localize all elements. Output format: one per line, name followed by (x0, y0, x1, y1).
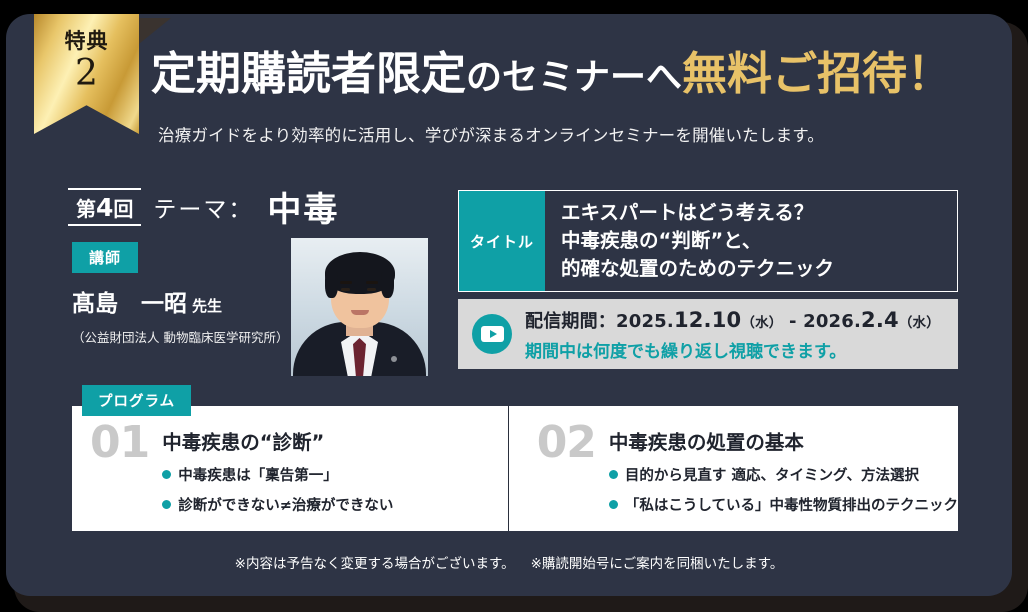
episode-badge: 第4回 (68, 188, 141, 226)
photo-brow-left (340, 281, 352, 284)
photo-brow-right (366, 281, 378, 284)
period-separator: - (782, 311, 803, 332)
program-bullet: 診断ができない≠治療ができない (162, 494, 393, 515)
lecturer-name: 髙島 一昭先生 (72, 284, 292, 318)
period-end-year: 2026. (803, 311, 861, 332)
theme-label: テーマ： (153, 190, 253, 224)
theme-value: 中毒 (267, 182, 339, 231)
title-line-2: 中毒疾患の“判断”と、 (561, 227, 957, 255)
program-bullet: 「私はこうしている」中毒性物質排出のテクニック (609, 494, 958, 515)
ribbon-number: 2 (75, 57, 98, 91)
episode-number: 4 (96, 193, 113, 222)
period-note: 期間中は何度でも繰り返し視聴できます。 (525, 337, 940, 362)
program-number-02: 02 (537, 422, 596, 531)
period-text: 配信期間：2025.12.10（水） - 2026.2.4（水） 期間中は何度で… (525, 307, 940, 362)
lecturer-photo (291, 238, 428, 376)
ribbon-body: 特典 2 (34, 14, 139, 134)
program-tab-label: プログラム (82, 385, 191, 416)
program-bullet: 目的から見直す 適応、タイミング、方法選択 (609, 464, 958, 485)
photo-lapel-pin (391, 356, 397, 362)
footer-note-1: ※内容は予告なく変更する場合がございます。 (235, 556, 515, 572)
video-screen (481, 326, 504, 342)
headline-white-small: のセミナーへ (466, 57, 682, 98)
title-line-3: 的確な処置のためのテクニック (561, 255, 957, 283)
bullet-dot-icon (162, 500, 171, 509)
photo-mouth (351, 310, 369, 315)
seminar-title-box: タイトル エキスパートはどう考える？ 中毒疾患の“判断”と、 的確な処置のための… (458, 190, 958, 292)
broadcast-period-box: 配信期間：2025.12.10（水） - 2026.2.4（水） 期間中は何度で… (458, 299, 958, 369)
photo-eye-left (341, 288, 350, 291)
bullet-dot-icon (609, 470, 618, 479)
play-triangle-icon (490, 330, 497, 338)
seminar-promo-banner: 特典 2 定期購読者限定のセミナーへ無料ご招待！ 治療ガイドをより効率的に活用し… (0, 0, 1028, 612)
episode-suffix: 回 (113, 197, 133, 221)
footer-note-2: ※購読開始号にご案内を同梱いたします。 (531, 556, 784, 572)
page-title: 定期購読者限定のセミナーへ無料ご招待！ (151, 50, 1001, 97)
program-heading-01: 中毒疾患の“診断” (162, 426, 393, 455)
period-end-day: （水） (899, 315, 940, 331)
headline-gold: 無料ご招待！ (682, 47, 952, 100)
lecturer-badge: 講師 (72, 242, 138, 273)
program-body-02: 中毒疾患の処置の基本 目的から見直す 適応、タイミング、方法選択 「私はこうして… (609, 422, 958, 531)
period-start-year: 2025. (616, 311, 674, 332)
footer-notes: ※内容は予告なく変更する場合がございます。※購読開始号にご案内を同梱いたします。 (6, 552, 1012, 572)
photo-hair-right (381, 268, 394, 298)
period-label: 配信期間： (525, 311, 616, 332)
lecturer-honorific: 先生 (192, 297, 222, 315)
video-play-icon (472, 314, 512, 354)
photo-eye-right (367, 288, 376, 291)
title-tab-label: タイトル (459, 191, 545, 291)
headline-white: 定期購読者限定 (151, 47, 466, 100)
lecturer-block: 講師 髙島 一昭先生 （公益財団法人 動物臨床医学研究所） (72, 242, 292, 346)
program-bullet-text: 中毒疾患は「稟告第一」 (178, 464, 338, 485)
program-bullet-text: 診断ができない≠治療ができない (178, 494, 393, 515)
program-heading-02: 中毒疾患の処置の基本 (609, 426, 958, 455)
program-bullet-text: 「私はこうしている」中毒性物質排出のテクニック (625, 494, 958, 515)
period-start-day: （水） (741, 315, 782, 331)
program-number-01: 01 (90, 422, 149, 531)
program-bullet-text: 目的から見直す 適応、タイミング、方法選択 (625, 464, 919, 485)
benefit-ribbon-badge: 特典 2 (34, 14, 139, 134)
promo-card: 特典 2 定期購読者限定のセミナーへ無料ご招待！ 治療ガイドをより効率的に活用し… (6, 14, 1012, 596)
bullet-dot-icon (162, 470, 171, 479)
program-panel: 01 中毒疾患の“診断” 中毒疾患は「稟告第一」 診断ができない≠治療ができない… (72, 406, 958, 531)
period-start-date: 12.10 (674, 308, 741, 332)
photo-hair-left (325, 268, 338, 298)
subtitle: 治療ガイドをより効率的に活用し、学びが深まるオンラインセミナーを開催いたします。 (158, 122, 998, 146)
bullet-dot-icon (609, 500, 618, 509)
title-lines: エキスパートはどう考える？ 中毒疾患の“判断”と、 的確な処置のためのテクニック (545, 191, 957, 291)
title-line-1: エキスパートはどう考える？ (561, 199, 957, 227)
theme-row: 第4回 テーマ： 中毒 (68, 182, 339, 231)
program-body-01: 中毒疾患の“診断” 中毒疾患は「稟告第一」 診断ができない≠治療ができない (162, 422, 393, 531)
lecturer-name-text: 髙島 一昭 (72, 291, 187, 317)
program-item-02: 02 中毒疾患の処置の基本 目的から見直す 適応、タイミング、方法選択 「私はこ… (508, 406, 958, 531)
episode-prefix: 第 (76, 197, 96, 221)
lecturer-organization: （公益財団法人 動物臨床医学研究所） (72, 327, 292, 346)
ribbon-label: 特典 (65, 25, 109, 55)
period-end-date: 2.4 (861, 308, 899, 332)
program-bullet: 中毒疾患は「稟告第一」 (162, 464, 393, 485)
program-item-01: 01 中毒疾患の“診断” 中毒疾患は「稟告第一」 診断ができない≠治療ができない (72, 406, 508, 531)
period-dates: 配信期間：2025.12.10（水） - 2026.2.4（水） (525, 307, 940, 333)
